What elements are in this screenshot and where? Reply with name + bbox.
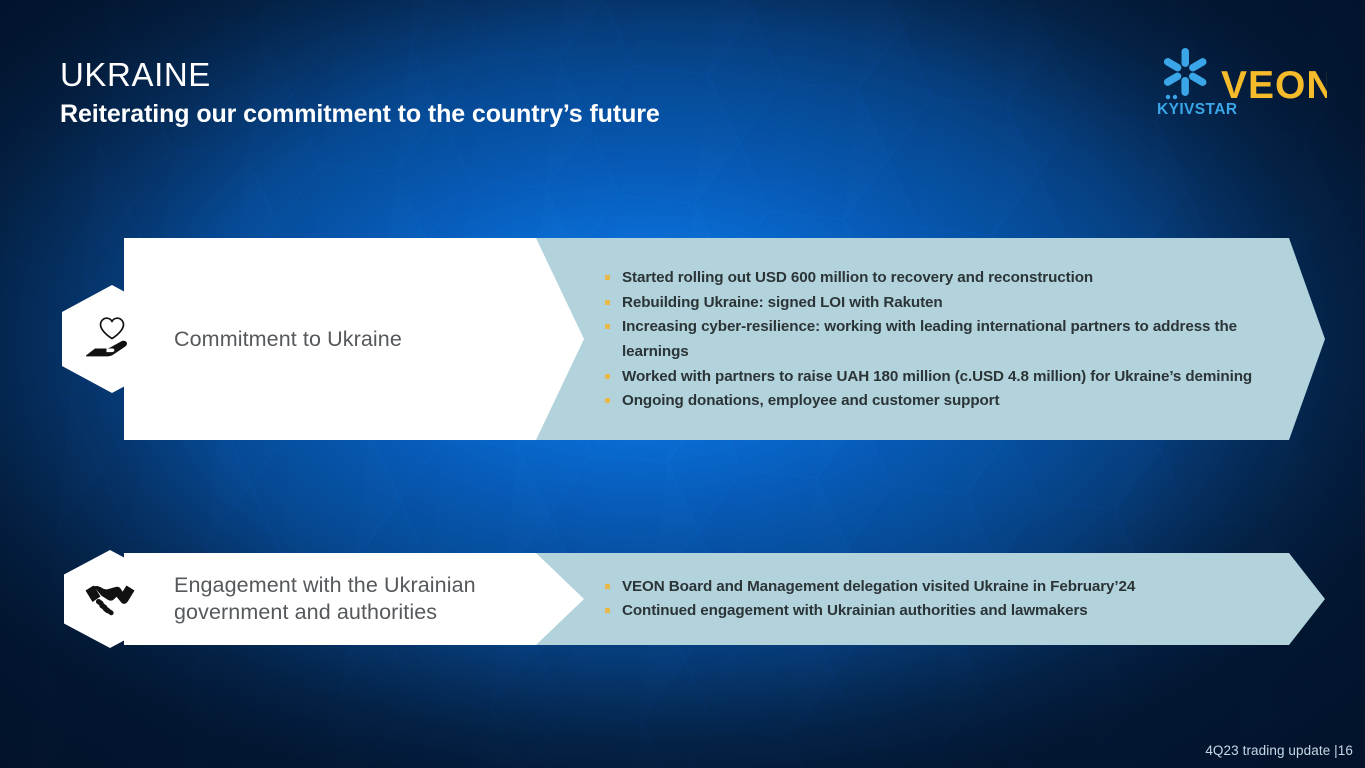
bullet-text: Rebuilding Ukraine: signed LOI with Raku… [622,291,943,316]
bullet-square-icon [605,608,610,613]
content-row-engagement: VEON Board and Management delegation vis… [0,553,1365,645]
slide-canvas: UKRAINE Reiterating our commitment to th… [0,0,1365,768]
category-label: Engagement with the Ukrainian government… [174,572,584,626]
heart-in-hand-icon [84,314,140,364]
bullet-text: Worked with partners to raise UAH 180 mi… [622,365,1252,390]
list-item: Worked with partners to raise UAH 180 mi… [605,365,1265,390]
category-label: Commitment to Ukraine [174,326,402,353]
list-item: Continued engagement with Ukrainian auth… [605,599,1265,623]
list-item: VEON Board and Management delegation vis… [605,575,1265,599]
category-panel-engagement: Engagement with the Ukrainian government… [124,553,584,645]
bullet-square-icon [605,584,610,589]
bullet-square-icon [605,275,610,280]
bullet-square-icon [605,300,610,305]
list-item: Increasing cyber-resilience: working wit… [605,315,1265,364]
bullet-square-icon [605,398,610,403]
list-item: Started rolling out USD 600 million to r… [605,266,1265,291]
category-panel-commitment: Commitment to Ukraine [124,238,584,440]
page-header: UKRAINE Reiterating our commitment to th… [60,58,660,128]
veon-kyivstar-logo: KYIVSTAR VEON [1141,48,1327,126]
page-title: UKRAINE [60,58,660,93]
footer-note: 4Q23 trading update |16 [1205,743,1353,758]
bullet-text: Increasing cyber-resilience: working wit… [622,315,1265,364]
content-row-commitment: Started rolling out USD 600 million to r… [0,238,1365,440]
bullet-text: Started rolling out USD 600 million to r… [622,266,1093,291]
bullet-square-icon [605,324,610,329]
page-subtitle: Reiterating our commitment to the countr… [60,101,660,129]
veon-wordmark: VEON [1221,64,1327,107]
kyivstar-spark-icon [1163,48,1208,96]
bullet-text: Continued engagement with Ukrainian auth… [622,599,1088,623]
handshake-icon [84,578,136,620]
bullet-text: Ongoing donations, employee and customer… [622,389,999,414]
list-item: Rebuilding Ukraine: signed LOI with Raku… [605,291,1265,316]
bullet-square-icon [605,374,610,379]
list-item: Ongoing donations, employee and customer… [605,389,1265,414]
bullet-text: VEON Board and Management delegation vis… [622,575,1135,599]
